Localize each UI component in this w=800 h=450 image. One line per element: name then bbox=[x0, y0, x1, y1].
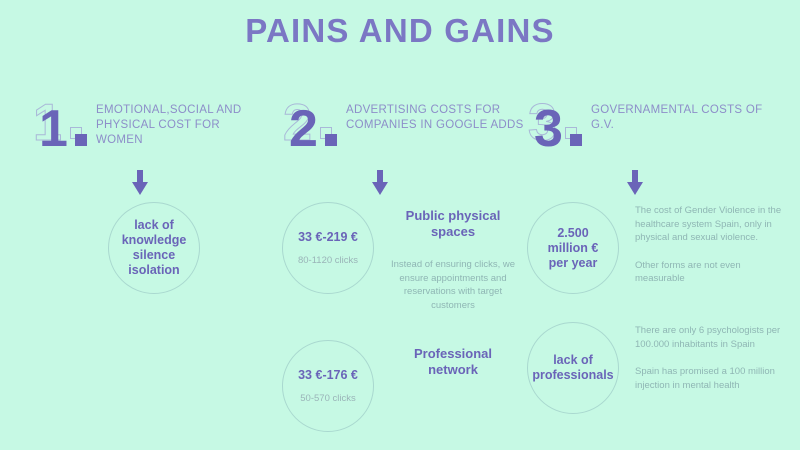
column-2-row-1: 33 €-219 € 80-1120 clicks Public physica… bbox=[282, 202, 532, 312]
circle-lack-of-knowledge: lack of knowledge silence isolation bbox=[108, 202, 200, 294]
numeral-1-solid: 1 bbox=[39, 104, 68, 154]
column-1: 1 1 EMOTIONAL,SOCIAL AND PHYSICAL COST F… bbox=[32, 98, 262, 294]
column-1-row-1: lack of knowledge silence isolation bbox=[108, 202, 262, 294]
column-1-header: 1 1 EMOTIONAL,SOCIAL AND PHYSICAL COST F… bbox=[32, 98, 262, 156]
circle-label-line-1: lack of bbox=[553, 353, 593, 368]
numeral-1-dot-solid bbox=[75, 134, 87, 146]
side-note-appointments: Instead of ensuring clicks, we ensure ap… bbox=[390, 258, 516, 312]
circle-label-line-3: silence bbox=[133, 248, 175, 263]
note-healthcare-cost: The cost of Gender Violence in the healt… bbox=[635, 204, 785, 245]
column-3-row-2: lack of professionals There are only 6 p… bbox=[527, 322, 789, 414]
column-3-row-1: 2.500 million € per year The cost of Gen… bbox=[527, 202, 789, 294]
circle-ads-cost-range-1: 33 €-219 € 80-1120 clicks bbox=[282, 202, 374, 294]
note-psychologists-ratio: There are only 6 psychologists per 100.0… bbox=[635, 324, 785, 351]
column-2: 2 2 ADVERTISING COSTS FOR COMPANIES IN G… bbox=[282, 98, 532, 432]
column-2-heading: ADVERTISING COSTS FOR COMPANIES IN GOOGL… bbox=[346, 98, 532, 133]
circle-label-line-1: 2.500 bbox=[557, 226, 588, 241]
side-heading-public-physical-spaces: Public physical spaces bbox=[390, 208, 516, 240]
column-3-row-2-text: There are only 6 psychologists per 100.0… bbox=[635, 322, 785, 392]
note-mental-health-injection: Spain has promised a 100 million injecti… bbox=[635, 365, 785, 392]
column-3-heading: GOVERNAMENTAL COSTS OF G.V. bbox=[591, 98, 789, 133]
side-heading-professional-network: Professional network bbox=[390, 346, 516, 378]
numeral-2: 2 2 bbox=[282, 98, 338, 156]
circle-label-line-3: per year bbox=[549, 256, 598, 271]
circle-subtext: 50-570 clicks bbox=[300, 392, 355, 405]
column-3-header: 3 3 GOVERNAMENTAL COSTS OF G.V. bbox=[527, 98, 789, 156]
circle-subtext: 80-1120 clicks bbox=[298, 254, 358, 267]
down-arrow-icon-1 bbox=[132, 170, 148, 196]
circle-label-line-4: isolation bbox=[128, 263, 179, 278]
column-2-row-2: 33 €-176 € 50-570 clicks Professional ne… bbox=[282, 340, 532, 432]
numeral-2-solid: 2 bbox=[289, 104, 318, 154]
circle-label-line-2: professionals bbox=[532, 368, 613, 383]
circle-annual-cost: 2.500 million € per year bbox=[527, 202, 619, 294]
down-arrow-icon-3 bbox=[627, 170, 643, 196]
column-3: 3 3 GOVERNAMENTAL COSTS OF G.V. 2.500 mi… bbox=[527, 98, 789, 414]
down-arrow-icon-2 bbox=[372, 170, 388, 196]
column-2-row-1-text: Public physical spaces Instead of ensuri… bbox=[390, 202, 516, 312]
circle-label: 33 €-176 € bbox=[298, 368, 358, 383]
column-1-heading: EMOTIONAL,SOCIAL AND PHYSICAL COST FOR W… bbox=[96, 98, 262, 148]
circle-label-line-1: lack of bbox=[134, 218, 174, 233]
circle-label-line-2: million € bbox=[548, 241, 599, 256]
numeral-1: 1 1 bbox=[32, 98, 88, 156]
arrow-head bbox=[627, 182, 643, 195]
column-2-header: 2 2 ADVERTISING COSTS FOR COMPANIES IN G… bbox=[282, 98, 532, 156]
column-3-row-1-text: The cost of Gender Violence in the healt… bbox=[635, 202, 785, 286]
numeral-3-dot-solid bbox=[570, 134, 582, 146]
arrow-head bbox=[132, 182, 148, 195]
numeral-3: 3 3 bbox=[527, 98, 583, 156]
circle-label-line-2: knowledge bbox=[122, 233, 187, 248]
circle-ads-cost-range-2: 33 €-176 € 50-570 clicks bbox=[282, 340, 374, 432]
numeral-2-dot-solid bbox=[325, 134, 337, 146]
infographic-page: PAINS AND GAINS 1 1 EMOTIONAL,SOCIAL AND… bbox=[0, 0, 800, 450]
column-2-row-2-text: Professional network bbox=[390, 340, 516, 378]
page-title: PAINS AND GAINS bbox=[0, 12, 800, 50]
arrow-head bbox=[372, 182, 388, 195]
note-other-forms: Other forms are not even measurable bbox=[635, 259, 785, 286]
circle-lack-of-professionals: lack of professionals bbox=[527, 322, 619, 414]
circle-label: 33 €-219 € bbox=[298, 230, 358, 245]
numeral-3-solid: 3 bbox=[534, 104, 563, 154]
